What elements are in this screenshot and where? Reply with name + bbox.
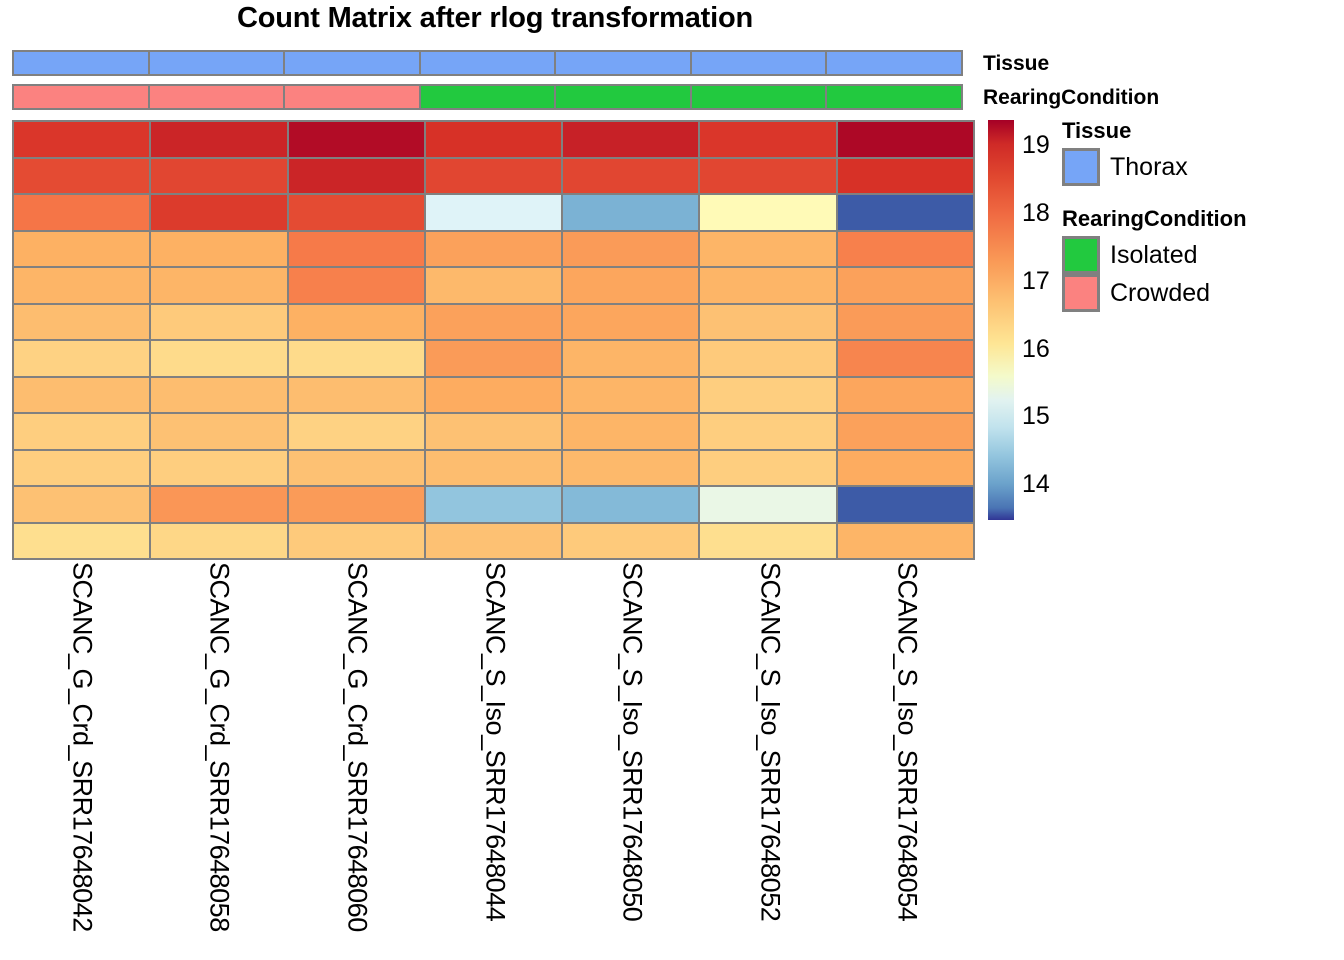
heatmap-cell: [12, 266, 151, 305]
heatmap-cell: [12, 157, 151, 196]
heatmap-cell: [12, 339, 151, 378]
heatmap-cell: [287, 157, 426, 196]
heatmap-cell: [561, 339, 700, 378]
rearing-annotation-cell: [419, 84, 557, 110]
column-label-slot: SCANC_S_Iso_SRR17648052: [700, 562, 838, 958]
heatmap-cell: [836, 376, 975, 415]
heatmap-cell: [287, 303, 426, 342]
heatmap-row: [12, 522, 975, 561]
heatmap-cell: [836, 120, 975, 159]
heatmap-row: [12, 339, 975, 378]
heatmap-cell: [149, 303, 288, 342]
tissue-annotation-cell: [148, 50, 286, 76]
column-label: SCANC_S_Iso_SRR17648052: [754, 562, 785, 921]
heatmap-cell: [698, 230, 837, 269]
annotation-label-tissue: Tissue: [983, 52, 1049, 76]
heatmap-cell: [698, 157, 837, 196]
heatmap-cell: [424, 339, 563, 378]
heatmap-cell: [561, 120, 700, 159]
heatmap-row: [12, 449, 975, 488]
heatmap-cell: [561, 449, 700, 488]
tissue-annotation-cell: [690, 50, 828, 76]
heatmap-cell: [424, 303, 563, 342]
heatmap-cell: [836, 485, 975, 524]
heatmap-row: [12, 266, 975, 305]
legend-swatch-isolated[interactable]: [1062, 236, 1100, 274]
legend-swatch-thorax[interactable]: [1062, 148, 1100, 186]
heatmap-cell: [698, 266, 837, 305]
heatmap-cell: [149, 376, 288, 415]
heatmap-cell: [561, 157, 700, 196]
column-label-slot: SCANC_S_Iso_SRR17648054: [837, 562, 975, 958]
heatmap-cell: [149, 412, 288, 451]
column-label-slot: SCANC_G_Crd_SRR17648058: [150, 562, 288, 958]
column-label: SCANC_S_Iso_SRR17648044: [479, 562, 510, 921]
column-label: SCANC_G_Crd_SRR17648058: [204, 562, 235, 932]
heatmap-cell: [149, 485, 288, 524]
heatmap-cell: [836, 266, 975, 305]
heatmap-cell: [424, 230, 563, 269]
heatmap-cell: [12, 120, 151, 159]
heatmap-cell: [149, 193, 288, 232]
heatmap-cell: [287, 522, 426, 561]
heatmap-grid: [12, 120, 975, 560]
column-label-slot: SCANC_G_Crd_SRR17648042: [12, 562, 150, 958]
heatmap-cell: [561, 230, 700, 269]
heatmap-cell: [698, 485, 837, 524]
heatmap-row: [12, 485, 975, 524]
heatmap-cell: [836, 449, 975, 488]
rearing-annotation-cell: [554, 84, 692, 110]
tissue-annotation-cell: [825, 50, 963, 76]
annotation-row-tissue: [12, 50, 963, 76]
heatmap-cell: [149, 230, 288, 269]
heatmap-cell: [424, 266, 563, 305]
heatmap-row: [12, 193, 975, 232]
heatmap-cell: [836, 157, 975, 196]
heatmap-cell: [424, 120, 563, 159]
heatmap-cell: [698, 339, 837, 378]
tissue-annotation-cell: [12, 50, 150, 76]
column-label: SCANC_G_Crd_SRR17648042: [67, 562, 98, 932]
heatmap-cell: [149, 522, 288, 561]
heatmap-cell: [698, 449, 837, 488]
legend-title-rearingcondition: RearingCondition: [1062, 206, 1247, 232]
heatmap-cell: [561, 485, 700, 524]
heatmap-cell: [424, 449, 563, 488]
column-label-slot: SCANC_G_Crd_SRR17648060: [287, 562, 425, 958]
tissue-annotation-cell: [419, 50, 557, 76]
colorbar-tick-label: 15: [1022, 402, 1050, 431]
heatmap-cell: [424, 412, 563, 451]
heatmap-row: [12, 412, 975, 451]
heatmap-cell: [287, 120, 426, 159]
heatmap-row: [12, 120, 975, 159]
heatmap-cell: [424, 522, 563, 561]
heatmap-cell: [424, 193, 563, 232]
heatmap-cell: [836, 339, 975, 378]
page-title: Count Matrix after rlog transformation: [0, 2, 990, 35]
heatmap-cell: [12, 412, 151, 451]
heatmap-cell: [287, 339, 426, 378]
tissue-annotation-cell: [554, 50, 692, 76]
heatmap-cell: [287, 376, 426, 415]
heatmap-cell: [561, 412, 700, 451]
annotation-label-rearingcondition: RearingCondition: [983, 86, 1159, 110]
heatmap-cell: [424, 485, 563, 524]
colorbar-tick-label: 19: [1022, 131, 1050, 160]
heatmap-cell: [149, 157, 288, 196]
rearing-annotation-cell: [12, 84, 150, 110]
colorbar-tick-label: 16: [1022, 335, 1050, 364]
heatmap-row: [12, 376, 975, 415]
heatmap-cell: [287, 412, 426, 451]
heatmap-figure: Count Matrix after rlog transformation T…: [0, 0, 1344, 960]
heatmap-cell: [149, 449, 288, 488]
heatmap-cell: [12, 522, 151, 561]
legend-label-crowded: Crowded: [1110, 279, 1210, 308]
heatmap-cell: [287, 193, 426, 232]
heatmap-row: [12, 157, 975, 196]
heatmap-row: [12, 303, 975, 342]
heatmap-row: [12, 230, 975, 269]
tissue-annotation-cell: [283, 50, 421, 76]
heatmap-cell: [561, 303, 700, 342]
heatmap-cell: [698, 120, 837, 159]
heatmap-cell: [698, 412, 837, 451]
heatmap-cell: [12, 376, 151, 415]
colorbar-tick-label: 17: [1022, 267, 1050, 296]
heatmap-cell: [836, 193, 975, 232]
column-label: SCANC_S_Iso_SRR17648050: [617, 562, 648, 921]
heatmap-cell: [561, 193, 700, 232]
heatmap-cell: [12, 230, 151, 269]
rearing-annotation-cell: [825, 84, 963, 110]
column-label-slot: SCANC_S_Iso_SRR17648044: [425, 562, 563, 958]
heatmap-cell: [424, 157, 563, 196]
rearing-annotation-cell: [283, 84, 421, 110]
heatmap-cell: [287, 266, 426, 305]
heatmap-cell: [698, 522, 837, 561]
heatmap-cell: [561, 376, 700, 415]
rearing-annotation-cell: [148, 84, 286, 110]
column-label-slot: SCANC_S_Iso_SRR17648050: [562, 562, 700, 958]
colorbar-tick-label: 18: [1022, 199, 1050, 228]
heatmap-cell: [287, 449, 426, 488]
heatmap-cell: [149, 266, 288, 305]
column-axis-labels: SCANC_G_Crd_SRR17648042SCANC_G_Crd_SRR17…: [12, 562, 975, 958]
colorbar-tick-label: 14: [1022, 470, 1050, 499]
heatmap-cell: [12, 303, 151, 342]
heatmap-cell: [561, 266, 700, 305]
legend-swatch-crowded[interactable]: [1062, 274, 1100, 312]
heatmap-cell: [836, 522, 975, 561]
heatmap-cell: [424, 376, 563, 415]
heatmap-cell: [836, 303, 975, 342]
legend-label-thorax: Thorax: [1110, 153, 1188, 182]
annotation-row-rearingcondition: [12, 84, 963, 110]
heatmap-cell: [287, 230, 426, 269]
heatmap-cell: [149, 120, 288, 159]
column-label: SCANC_G_Crd_SRR17648060: [342, 562, 373, 932]
heatmap-cell: [698, 303, 837, 342]
rearing-annotation-cell: [690, 84, 828, 110]
heatmap-cell: [561, 522, 700, 561]
colorbar-gradient: [988, 120, 1014, 520]
heatmap-cell: [12, 193, 151, 232]
heatmap-cell: [287, 485, 426, 524]
legend-title-tissue: Tissue: [1062, 118, 1131, 144]
heatmap-cell: [836, 412, 975, 451]
heatmap-cell: [836, 230, 975, 269]
legend-label-isolated: Isolated: [1110, 241, 1198, 270]
heatmap-cell: [698, 376, 837, 415]
heatmap-cell: [149, 339, 288, 378]
heatmap-cell: [698, 193, 837, 232]
heatmap-cell: [12, 449, 151, 488]
heatmap-cell: [12, 485, 151, 524]
column-label: SCANC_S_Iso_SRR17648054: [892, 562, 923, 921]
